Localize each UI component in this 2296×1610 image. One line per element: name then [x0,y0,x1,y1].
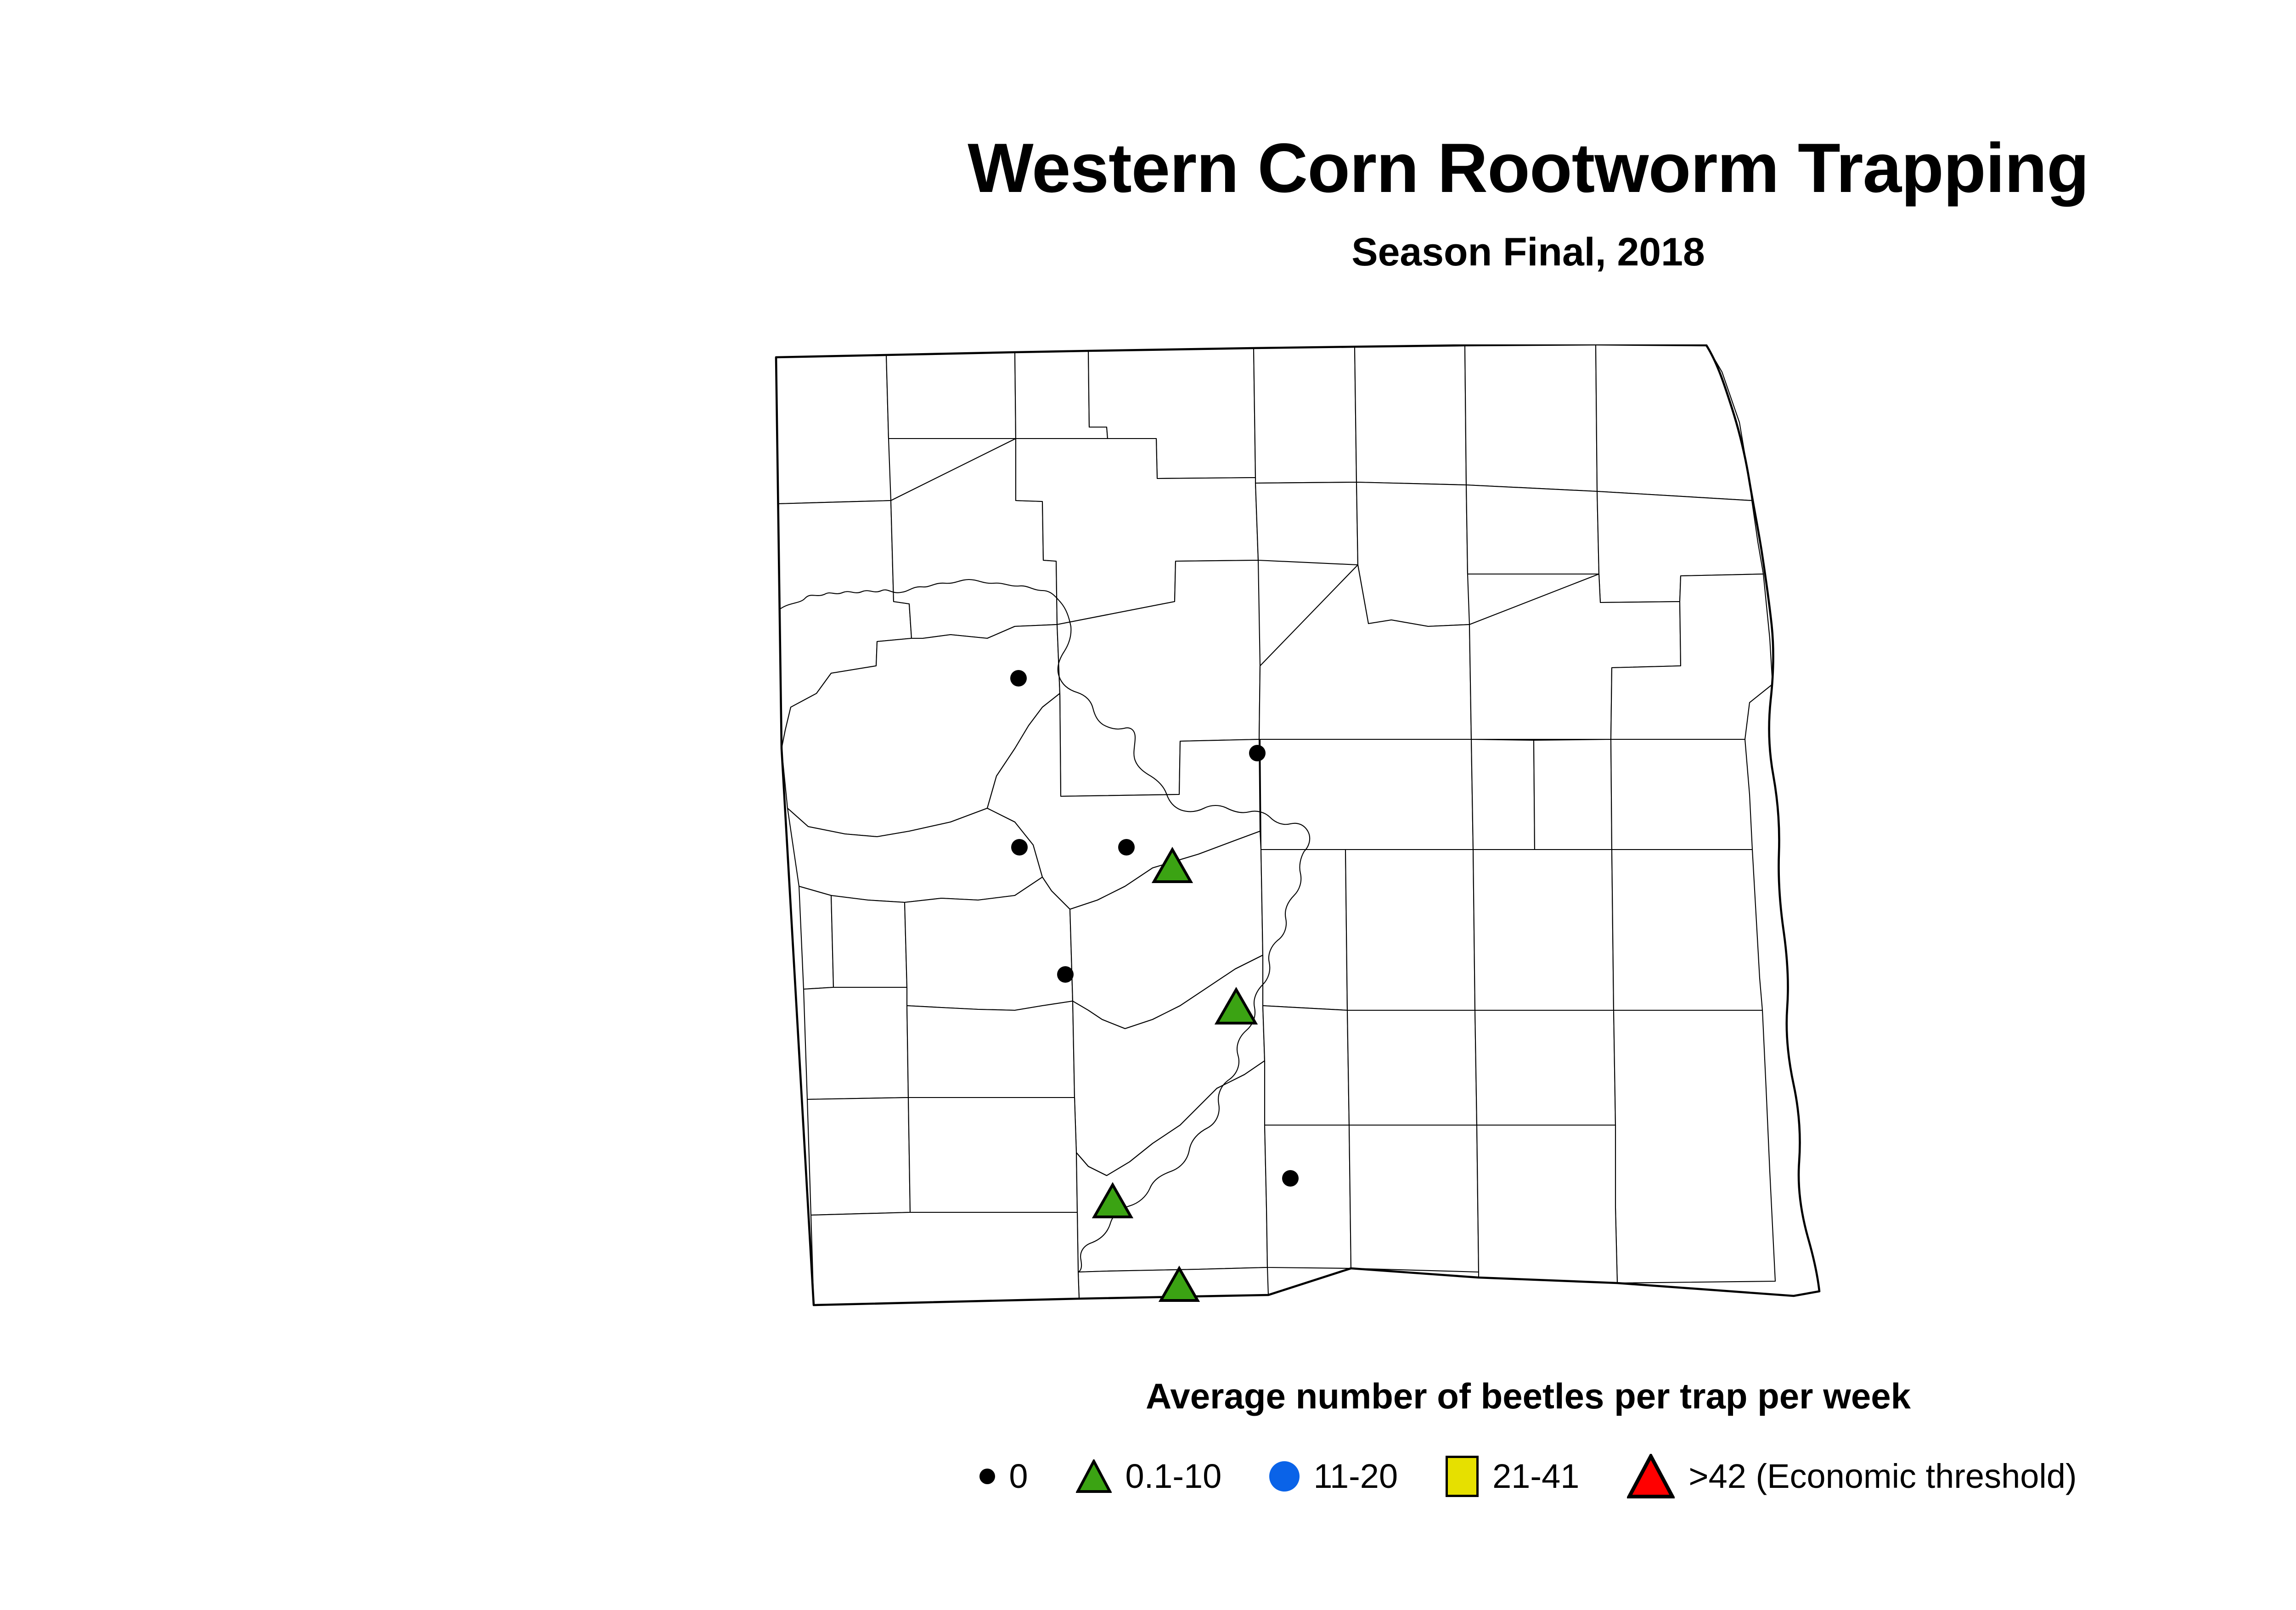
page-title: Western Corn Rootworm Trapping [968,133,2088,203]
county-hettinger[interactable] [907,1001,1075,1098]
north-dakota-county-map[interactable] [693,344,2296,1327]
county-sw-strip[interactable] [811,1212,1079,1305]
county-billings[interactable] [831,895,907,987]
county-bowman[interactable] [807,1098,910,1215]
county-pierce[interactable] [1255,482,1358,565]
county-stutsman[interactable] [1345,850,1475,1010]
legend-item-mid[interactable]: 11-20 [1269,1459,1398,1493]
county-rolette[interactable] [1254,347,1356,483]
black-dot-icon [979,1469,995,1484]
legend-items: 0 0.1-10 11-20 21-41 [979,1454,2077,1499]
county-slope[interactable] [804,987,908,1099]
county-benson[interactable] [1356,482,1469,626]
yellow-square-icon [1446,1456,1479,1497]
map-figure: Western Corn Rootworm Trapping Season Fi… [0,0,2296,1610]
county-ransom[interactable] [1475,1010,1615,1125]
legend-item-high[interactable]: 21-41 [1446,1456,1579,1497]
green-triangle-icon [1076,1459,1112,1493]
county-golden-valley[interactable] [799,886,833,989]
county-emmons[interactable] [1265,1125,1351,1268]
legend-label-threshold: >42 (Economic threshold) [1688,1459,2077,1493]
county-lamoure[interactable] [1347,1010,1477,1125]
county-mcintosh[interactable] [1349,1125,1479,1272]
county-ramsey[interactable] [1466,485,1599,574]
legend-title: Average number of beetles per trap per w… [1146,1375,1911,1417]
legend-item-threshold[interactable]: >42 (Economic threshold) [1627,1454,2077,1499]
legend-label-zero: 0 [1009,1459,1028,1493]
county-dickey[interactable] [1477,1125,1617,1283]
page-subtitle: Season Final, 2018 [1351,230,1705,275]
trap-marker-zero[interactable] [1282,1170,1299,1187]
county-richland[interactable] [1614,1010,1775,1283]
legend-item-zero[interactable]: 0 [979,1459,1028,1493]
county-adams[interactable] [908,1098,1077,1212]
red-triangle-icon [1627,1454,1675,1499]
legend-label-high: 21-41 [1492,1459,1579,1493]
county-traill[interactable] [1611,739,1752,850]
county-barnes[interactable] [1473,850,1614,1010]
county-burke[interactable] [886,352,1016,439]
trap-marker-zero[interactable] [1118,839,1135,856]
county-divide[interactable] [776,355,891,504]
county-cass[interactable] [1612,850,1762,1010]
legend-label-low: 0.1-10 [1125,1459,1222,1493]
county-wells[interactable] [1260,739,1473,850]
county-layer [776,344,1775,1305]
county-pembina[interactable] [1596,344,1752,501]
county-logan[interactable] [1263,1006,1349,1125]
county-griggs[interactable] [1534,739,1612,850]
county-towner[interactable] [1355,345,1466,485]
trap-marker-zero[interactable] [1249,745,1266,761]
trap-marker-zero[interactable] [1057,966,1074,983]
map-legend: Average number of beetles per trap per w… [0,1375,2296,1499]
blue-circle-icon [1269,1461,1300,1492]
trap-marker-zero[interactable] [1011,839,1028,856]
county-cavalier[interactable] [1465,344,1597,491]
legend-label-mid: 11-20 [1313,1459,1398,1493]
trap-marker-zero[interactable] [1010,670,1027,687]
county-foster[interactable] [1471,739,1535,850]
legend-item-low[interactable]: 0.1-10 [1076,1459,1222,1493]
county-kidder[interactable] [1261,850,1347,1010]
map-svg [693,344,2296,1327]
